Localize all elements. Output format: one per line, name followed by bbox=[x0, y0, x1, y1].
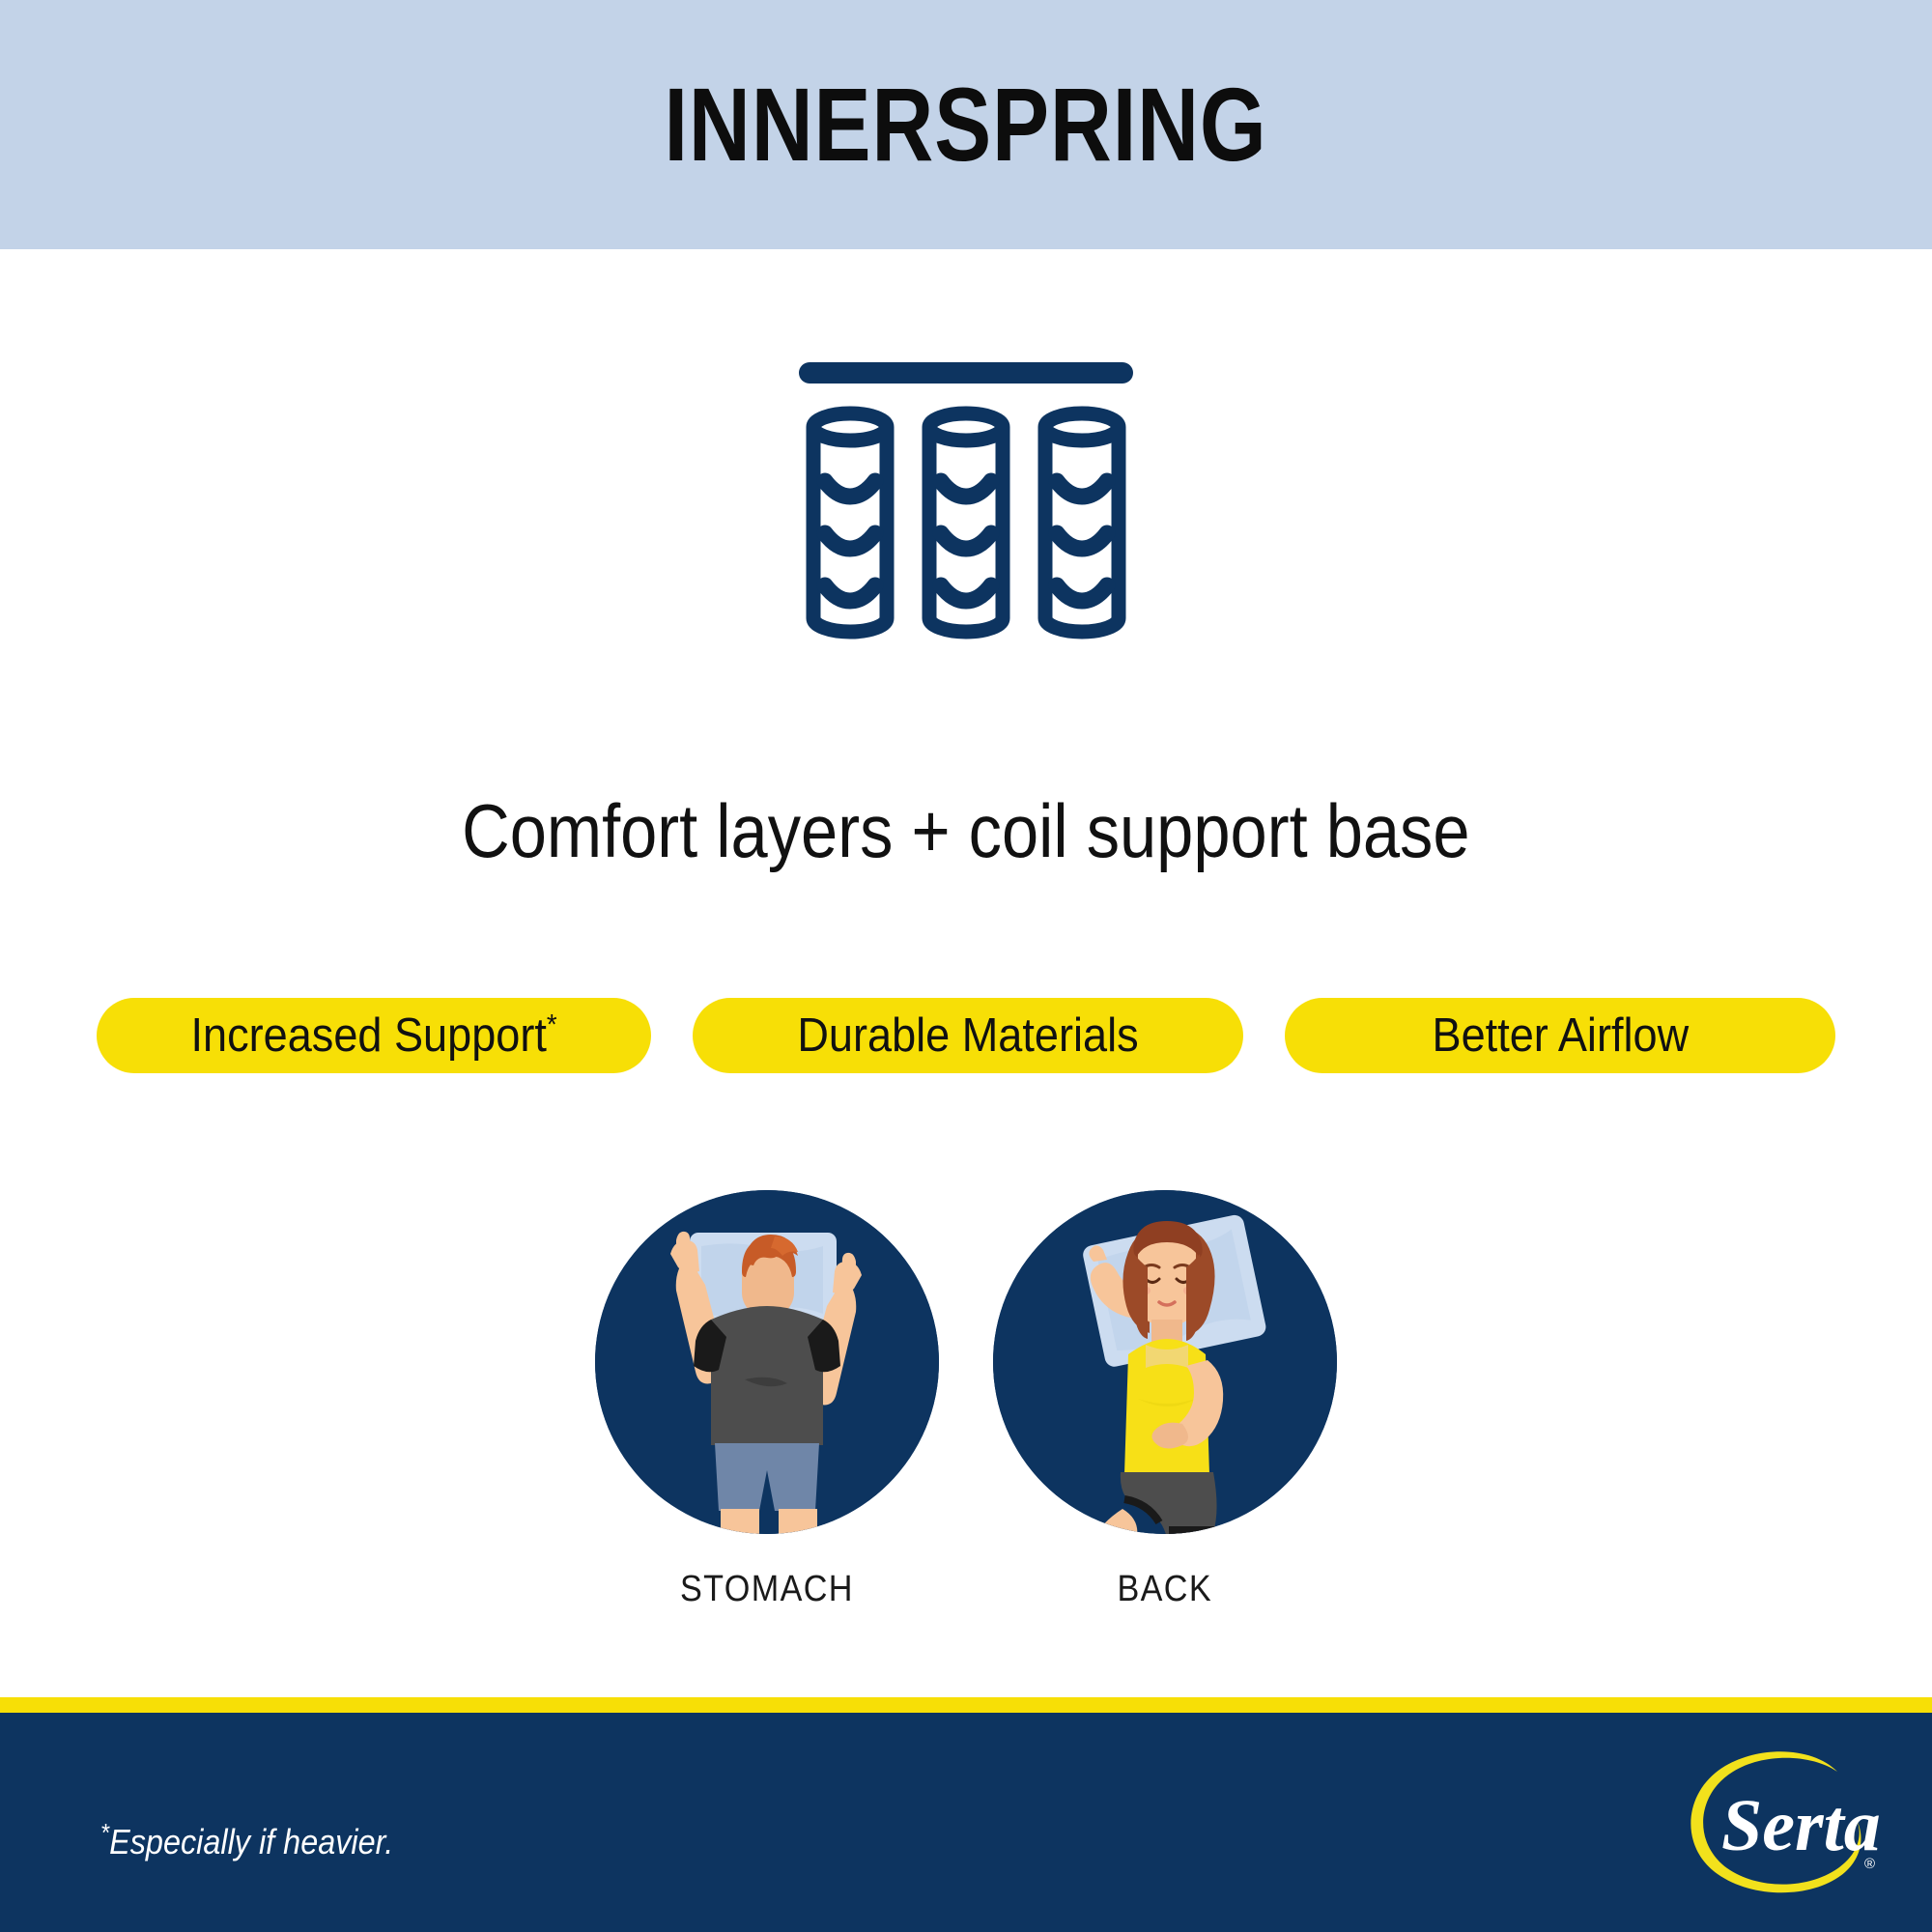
hero-subtitle-text: Comfort layers + coil support base bbox=[462, 790, 1469, 873]
feature-pill-increased-support[interactable]: Increased Support* bbox=[97, 998, 651, 1073]
tshirt bbox=[694, 1306, 840, 1445]
infographic-page: INNERSPRING bbox=[0, 0, 1932, 1932]
coil-springs-icon bbox=[792, 357, 1140, 647]
feature-pills-row: Increased Support* Durable Materials Bet… bbox=[97, 998, 1835, 1073]
feature-pill-better-airflow[interactable]: Better Airflow bbox=[1285, 998, 1835, 1073]
footnote: *Especially if heavier. bbox=[100, 1822, 393, 1862]
feature-pill-label: Better Airflow bbox=[1432, 1012, 1689, 1060]
logo-registered-mark: ® bbox=[1864, 1856, 1875, 1872]
header-band: INNERSPRING bbox=[0, 0, 1932, 249]
sleep-position-back[interactable]: BACK bbox=[993, 1190, 1337, 1610]
feature-pill-text: Durable Materials bbox=[797, 1009, 1138, 1062]
serta-logo-icon: Serta ® bbox=[1675, 1748, 1897, 1898]
sleep-position-label-stomach: STOMACH bbox=[680, 1569, 854, 1610]
footnote-marker-icon: * bbox=[547, 1009, 557, 1040]
feature-pill-label: Increased Support* bbox=[190, 1012, 556, 1060]
feature-pill-durable-materials[interactable]: Durable Materials bbox=[693, 998, 1243, 1073]
serta-logo[interactable]: Serta ® bbox=[1675, 1748, 1897, 1898]
page-title: INNERSPRING bbox=[665, 72, 1267, 177]
stomach-sleeper-illustration bbox=[595, 1190, 939, 1534]
feature-pill-label: Durable Materials bbox=[797, 1012, 1138, 1060]
hero-subtitle: Comfort layers + coil support base bbox=[0, 790, 1932, 873]
head bbox=[742, 1235, 798, 1318]
sleep-positions-row: STOMACH bbox=[0, 1190, 1932, 1610]
sleep-position-label-back: BACK bbox=[1118, 1569, 1213, 1610]
stomach-sleeper-circle bbox=[595, 1190, 939, 1534]
feature-pill-text: Better Airflow bbox=[1432, 1009, 1689, 1062]
sleep-position-stomach[interactable]: STOMACH bbox=[595, 1190, 939, 1610]
logo-wordmark: Serta bbox=[1721, 1785, 1881, 1866]
footer-accent-stripe bbox=[0, 1697, 1932, 1713]
hero-icon-container bbox=[0, 357, 1932, 647]
feature-pill-text: Increased Support bbox=[190, 1009, 546, 1062]
back-sleeper-illustration bbox=[993, 1190, 1337, 1534]
footnote-text: Especially if heavier. bbox=[109, 1822, 393, 1861]
back-sleeper-circle bbox=[993, 1190, 1337, 1534]
footnote-marker-icon: * bbox=[100, 1818, 109, 1847]
